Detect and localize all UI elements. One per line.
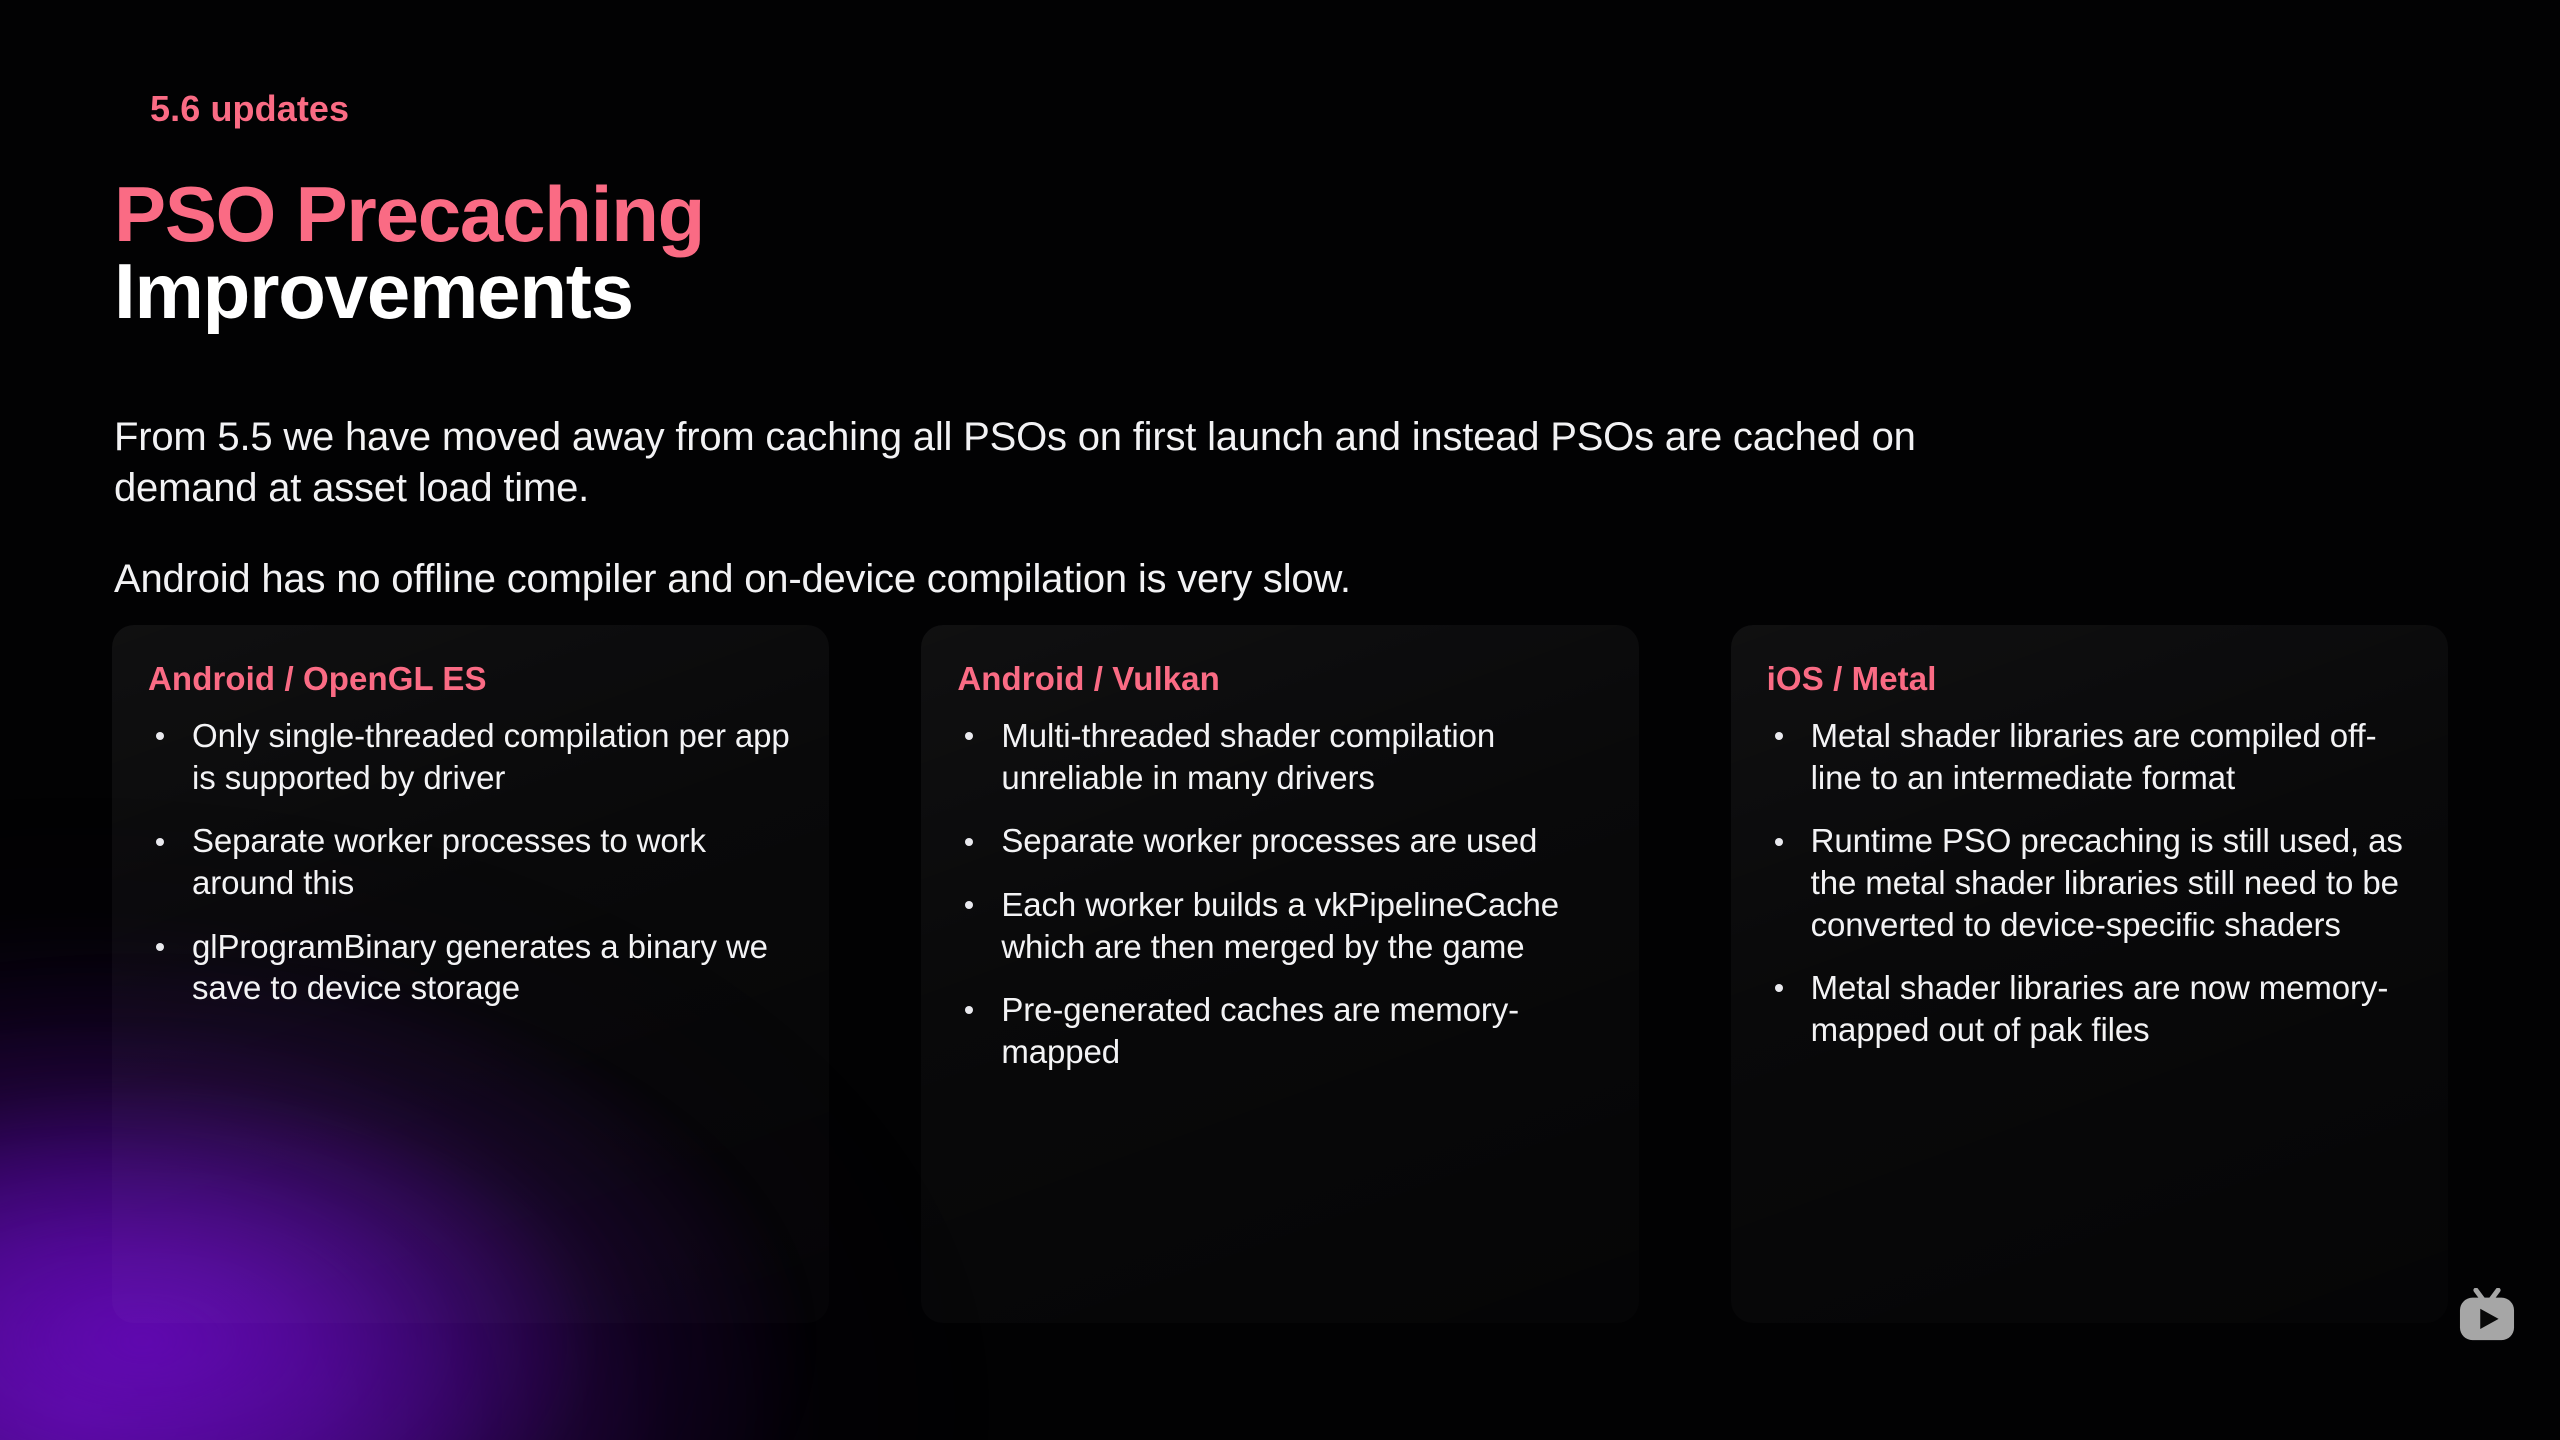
platform-cards: Android / OpenGL ES Only single-threaded… bbox=[112, 625, 2448, 1323]
bullet-dot-icon bbox=[965, 1006, 973, 1014]
list-item-text: Pre-generated caches are memory-mapped bbox=[1001, 991, 1519, 1070]
list-item-text: Each worker builds a vkPipelineCache whi… bbox=[1001, 886, 1559, 965]
intro-paragraph-1: From 5.5 we have moved away from caching… bbox=[114, 412, 1954, 514]
list-item-text: Separate worker processes to work around… bbox=[192, 822, 706, 901]
list-item-text: Multi-threaded shader compilation unreli… bbox=[1001, 717, 1495, 796]
bullet-dot-icon bbox=[965, 732, 973, 740]
card-bullet-list: Multi-threaded shader compilation unreli… bbox=[957, 715, 1604, 1072]
list-item: Runtime PSO precaching is still used, as… bbox=[1767, 820, 2414, 945]
card-ios-metal: iOS / Metal Metal shader libraries are c… bbox=[1731, 625, 2448, 1323]
bullet-dot-icon bbox=[156, 943, 164, 951]
slide-title-line-2: Improvements bbox=[114, 253, 704, 330]
list-item-text: Only single-threaded compilation per app… bbox=[192, 717, 790, 796]
bullet-dot-icon bbox=[1775, 732, 1783, 740]
intro-paragraphs: From 5.5 we have moved away from caching… bbox=[114, 412, 1954, 606]
list-item: Metal shader libraries are now memory-ma… bbox=[1767, 967, 2414, 1050]
card-bullet-list: Only single-threaded compilation per app… bbox=[148, 715, 795, 1008]
list-item: Only single-threaded compilation per app… bbox=[148, 715, 795, 798]
card-title: Android / Vulkan bbox=[957, 661, 1604, 697]
list-item: Separate worker processes to work around… bbox=[148, 820, 795, 903]
list-item: glProgramBinary generates a binary we sa… bbox=[148, 926, 795, 1009]
card-bullet-list: Metal shader libraries are compiled off-… bbox=[1767, 715, 2414, 1050]
card-android-vulkan: Android / Vulkan Multi-threaded shader c… bbox=[921, 625, 1638, 1323]
slide-title: PSO Precaching Improvements bbox=[114, 176, 704, 330]
bullet-dot-icon bbox=[156, 838, 164, 846]
list-item-text: Metal shader libraries are compiled off-… bbox=[1811, 717, 2377, 796]
card-title: iOS / Metal bbox=[1767, 661, 2414, 697]
list-item-text: glProgramBinary generates a binary we sa… bbox=[192, 928, 768, 1007]
list-item: Multi-threaded shader compilation unreli… bbox=[957, 715, 1604, 798]
card-title: Android / OpenGL ES bbox=[148, 661, 795, 697]
list-item: Each worker builds a vkPipelineCache whi… bbox=[957, 884, 1604, 967]
list-item-text: Separate worker processes are used bbox=[1001, 822, 1537, 859]
bullet-dot-icon bbox=[965, 901, 973, 909]
list-item: Separate worker processes are used bbox=[957, 820, 1604, 862]
slide-title-line-1: PSO Precaching bbox=[114, 176, 704, 253]
bullet-dot-icon bbox=[1775, 984, 1783, 992]
intro-paragraph-2: Android has no offline compiler and on-d… bbox=[114, 554, 1954, 605]
presentation-slide: 5.6 updates PSO Precaching Improvements … bbox=[0, 0, 2560, 1440]
bullet-dot-icon bbox=[156, 732, 164, 740]
list-item: Metal shader libraries are compiled off-… bbox=[1767, 715, 2414, 798]
slide-eyebrow: 5.6 updates bbox=[150, 91, 349, 127]
bullet-dot-icon bbox=[965, 838, 973, 846]
bullet-dot-icon bbox=[1775, 838, 1783, 846]
list-item-text: Metal shader libraries are now memory-ma… bbox=[1811, 969, 2389, 1048]
list-item-text: Runtime PSO precaching is still used, as… bbox=[1811, 822, 2403, 942]
list-item: Pre-generated caches are memory-mapped bbox=[957, 989, 1604, 1072]
tv-play-icon bbox=[2456, 1288, 2518, 1344]
card-android-opengl-es: Android / OpenGL ES Only single-threaded… bbox=[112, 625, 829, 1323]
